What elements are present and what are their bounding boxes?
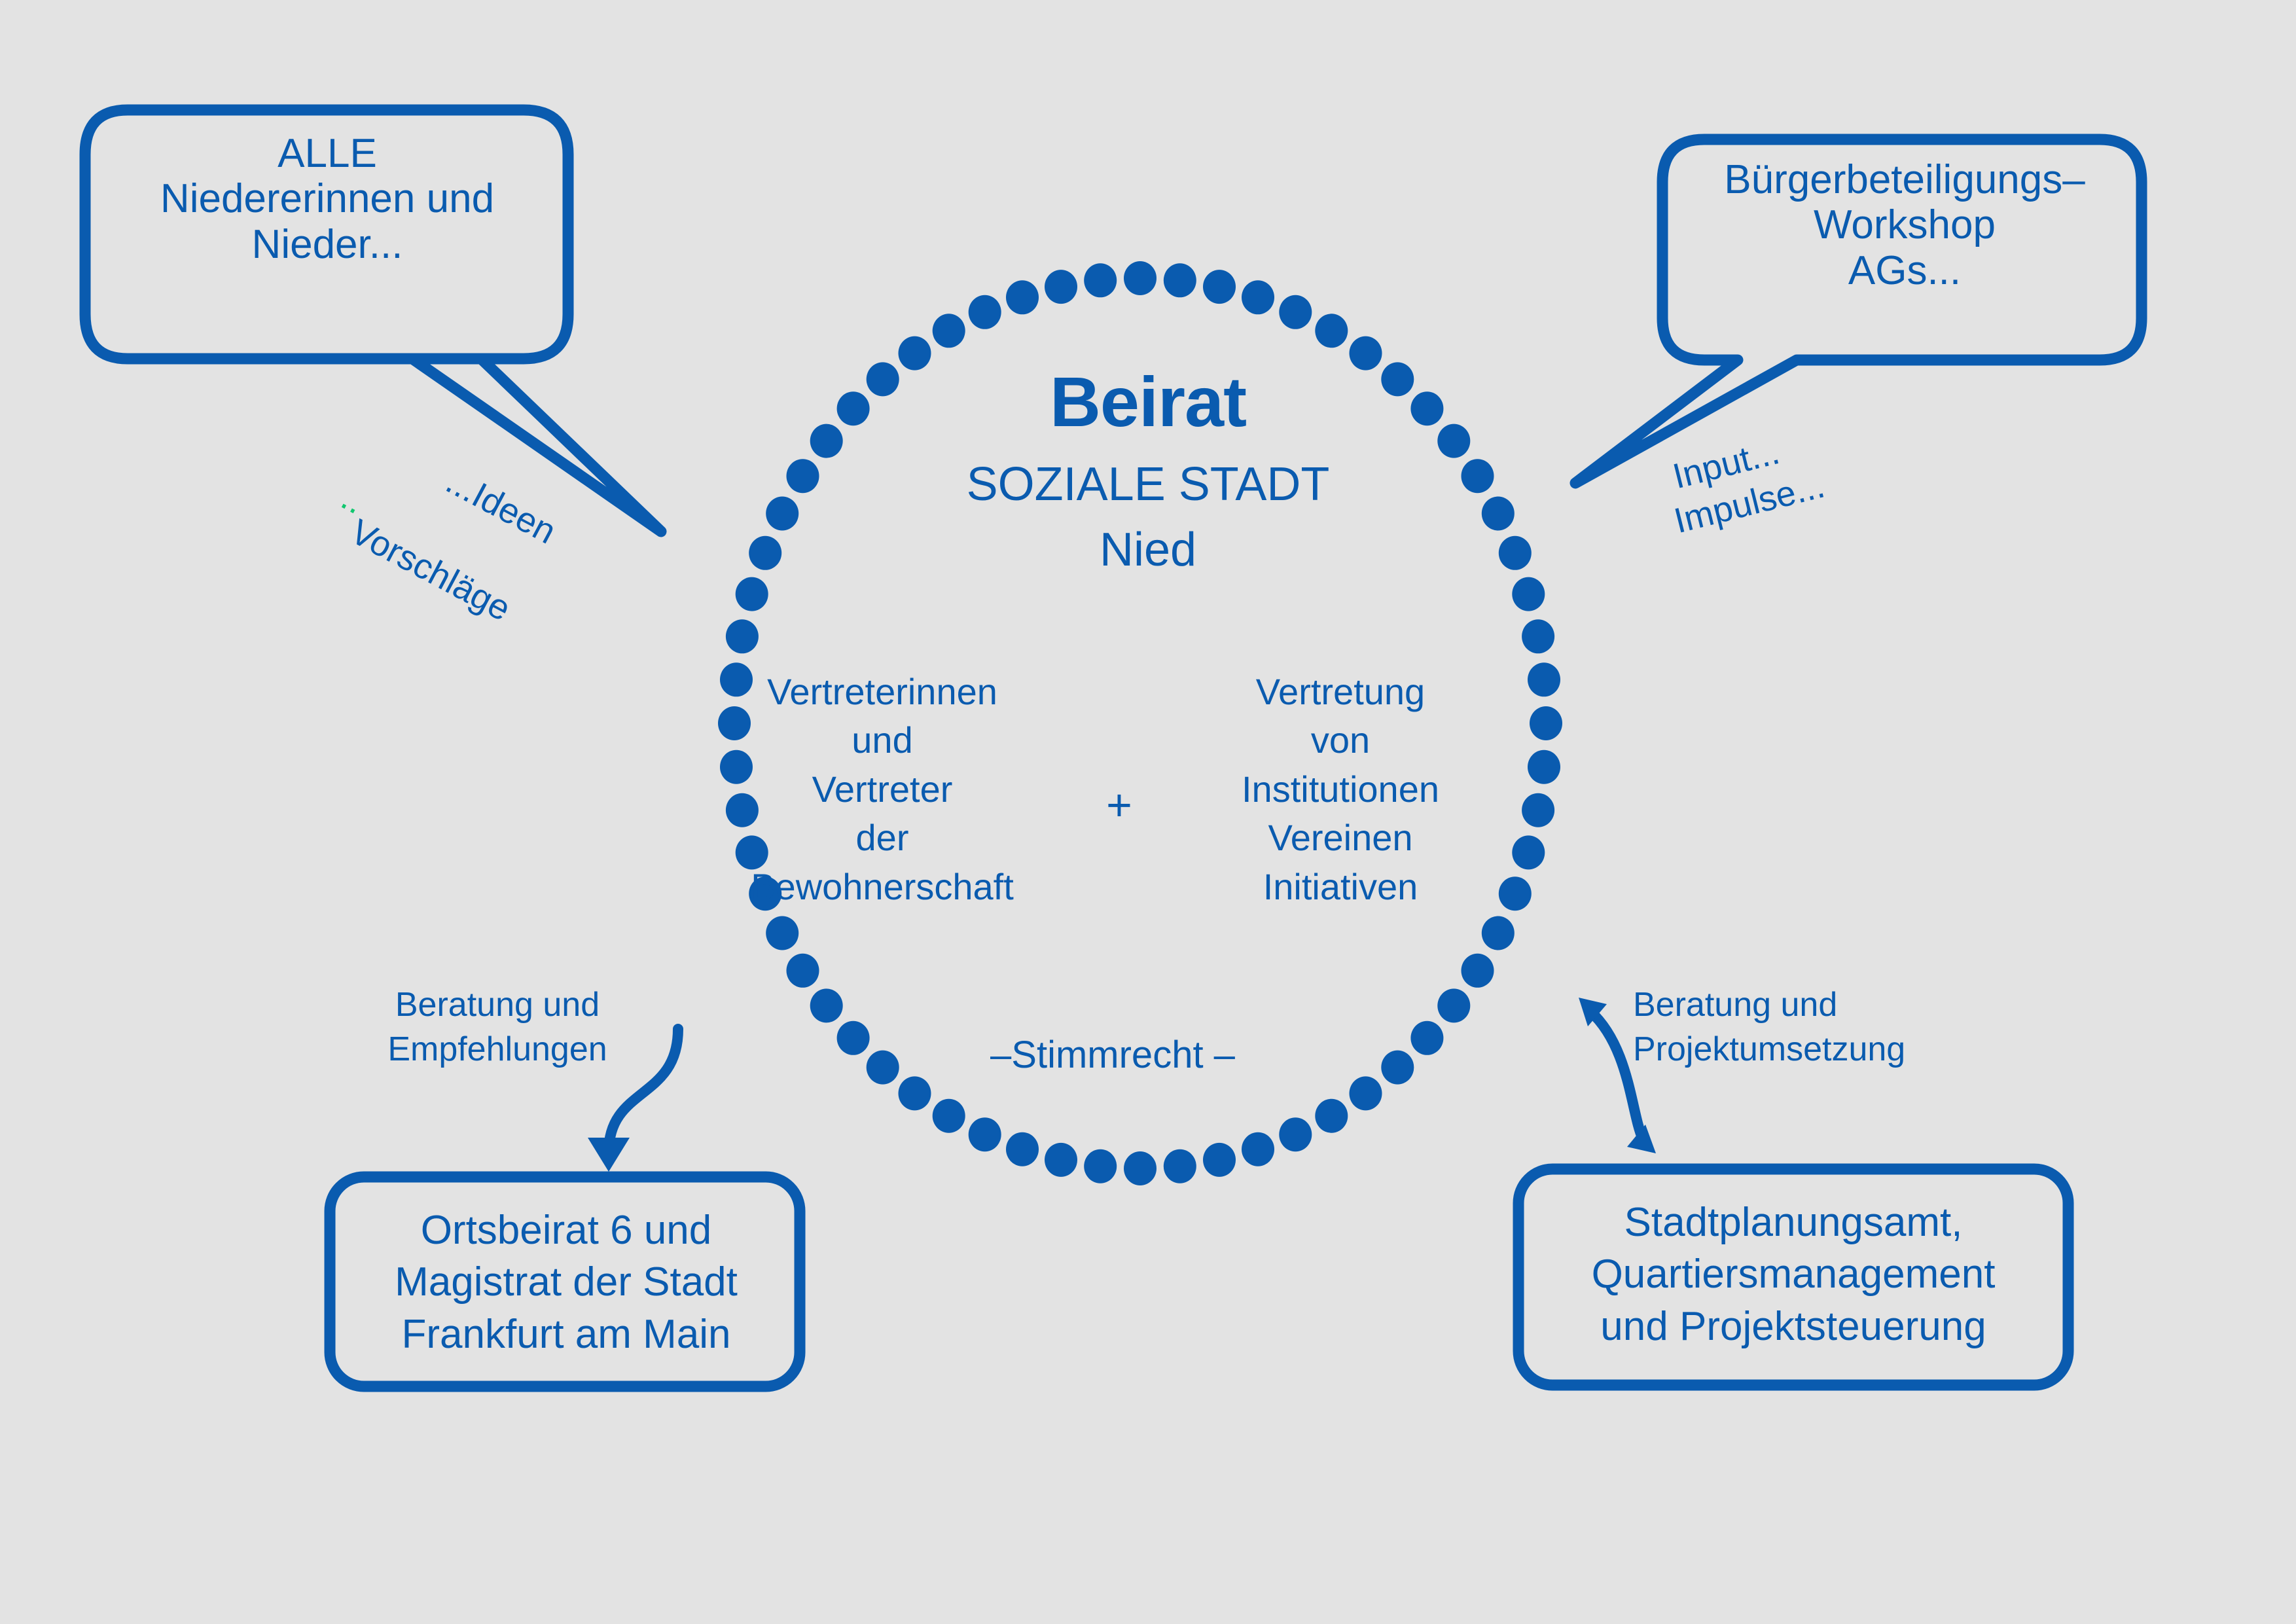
center-subtitle-line-1: SOZIALE STADT xyxy=(821,458,1475,511)
bubble-top-left-label: ALLE Niedererinnen und Nieder... xyxy=(98,131,556,267)
arrow-right-label: Beratung und Projektumsetzung xyxy=(1633,983,1973,1072)
center-title: Beirat xyxy=(821,363,1475,442)
center-footer-stimmrecht: –Stimmrecht – xyxy=(949,1034,1276,1077)
bubble-top-right-label: Bürgerbeteiligungs– Workshop AGs... xyxy=(1676,157,2134,293)
box-bottom-left-label: Ortsbeirat 6 und Magistrat der Stadt Fra… xyxy=(340,1204,792,1360)
plus-symbol: + xyxy=(1073,780,1165,830)
center-subtitle-line-2: Nied xyxy=(821,524,1475,577)
center-column-right: Vertretung von Institutionen Vereinen In… xyxy=(1183,668,1498,911)
center-column-left: Vertreterinnen und Vertreter der Bewohne… xyxy=(706,668,1059,911)
box-bottom-right-label: Stadtplanungsamt, Quartiersmanagement un… xyxy=(1525,1197,2062,1352)
diagram-canvas: ALLE Niedererinnen und Nieder... Bürgerb… xyxy=(0,0,2296,1624)
arrow-left-label: Beratung und Empfehlungen xyxy=(334,983,661,1072)
